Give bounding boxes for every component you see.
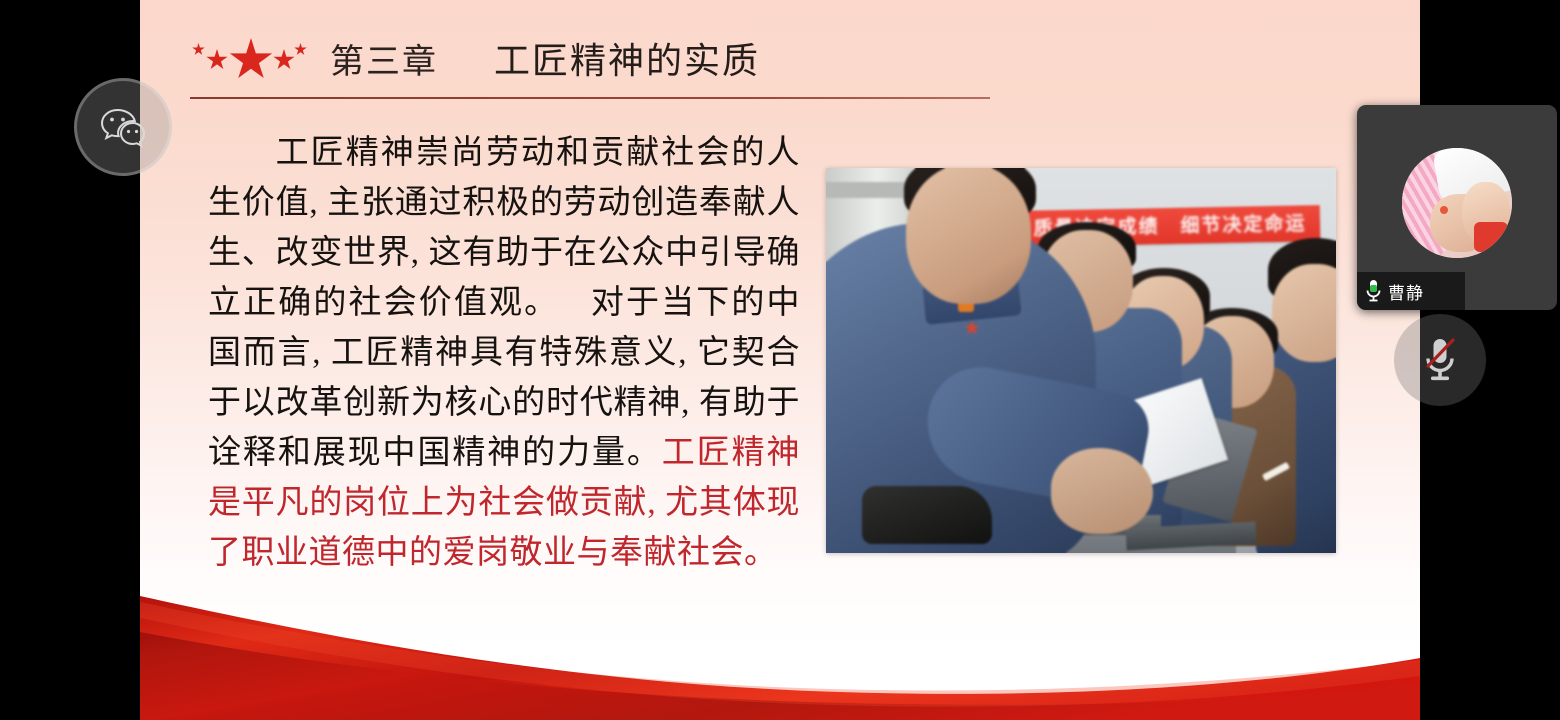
participant-name: 曹静 [1388,279,1424,304]
video-call-stage: 第三章 工匠精神的实质 工匠精神崇尚劳动和贡献社会的人生价值, 主张通过积极的劳… [0,0,1560,720]
page-title: 工匠精神的实质 [494,32,760,84]
wechat-icon [100,107,146,147]
microphone-muted-icon [1420,334,1460,386]
slide-title-row: 第三章 工匠精神的实质 [190,22,1040,94]
title-divider [190,97,990,99]
slide-photo: 质量决定成绩 细节决定命运 [826,168,1336,553]
shared-screen-slide: 第三章 工匠精神的实质 工匠精神崇尚劳动和贡献社会的人生价值, 主张通过积极的劳… [140,0,1420,720]
five-red-stars-icon [190,35,308,81]
avatar [1402,148,1512,258]
participant-name-bar: 曹静 [1357,272,1465,310]
mute-toggle-button[interactable] [1394,314,1486,406]
slide-body-text: 工匠精神崇尚劳动和贡献社会的人生价值, 主张通过积极的劳动创造奉献人生、改变世界… [208,128,800,578]
participant-video-tile[interactable]: 曹静 [1357,105,1557,310]
microphone-on-icon [1365,279,1382,303]
wechat-floating-button[interactable] [74,78,172,176]
chapter-label: 第三章 [330,34,438,83]
red-ribbon-decoration [140,580,1420,720]
